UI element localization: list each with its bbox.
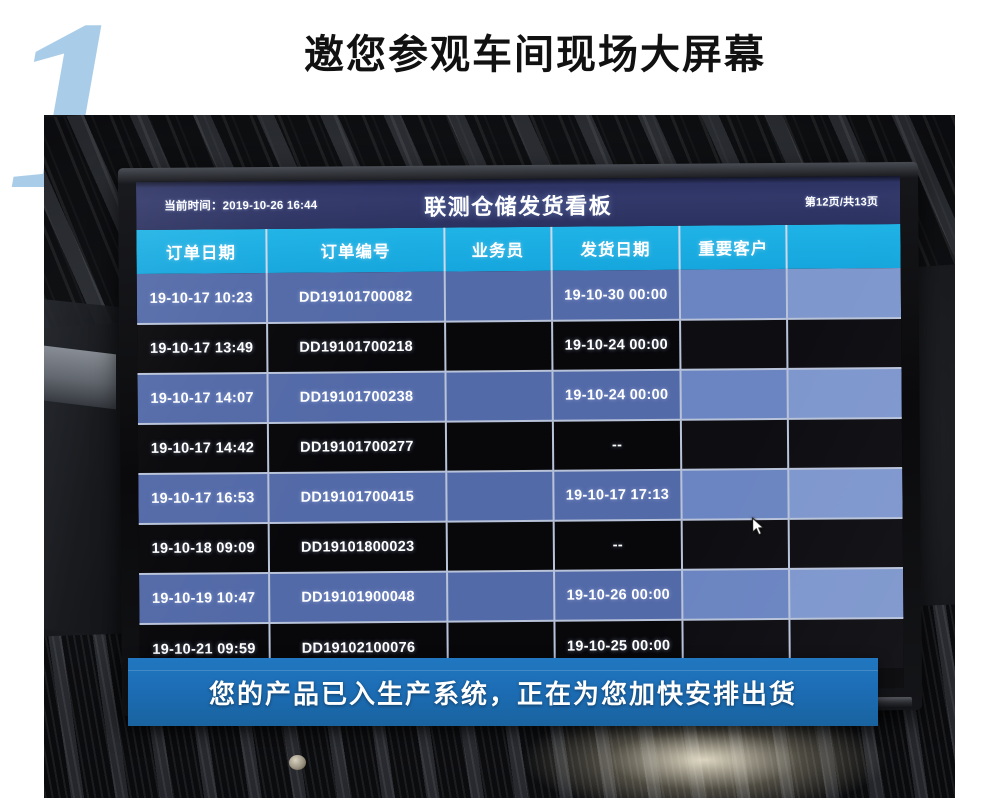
dashboard-screen: 当前时间：2019-10-26 16:44 联测仓储发货看板 第12页/共13页… bbox=[136, 176, 904, 694]
cell-order-date: 19-10-17 16:53 bbox=[138, 473, 268, 524]
screenshot-root: 1 邀您参观车间现场大屏幕 当前时间：2019-10-26 16:44 联测仓储… bbox=[0, 0, 1000, 798]
dashboard-header: 当前时间：2019-10-26 16:44 联测仓储发货看板 第12页/共13页 bbox=[136, 176, 900, 230]
column-header-extra bbox=[786, 224, 900, 269]
cell-salesperson bbox=[447, 521, 554, 572]
column-header-order-no: 订单编号 bbox=[266, 228, 444, 273]
table-row: 19-10-17 16:53 DD19101700415 19-10-17 17… bbox=[138, 468, 902, 524]
page-title: 邀您参观车间现场大屏幕 bbox=[0, 22, 1000, 80]
cell-key-customer bbox=[681, 369, 788, 420]
cell-ship-date: -- bbox=[553, 520, 682, 571]
table-row: 19-10-17 14:42 DD19101700277 -- bbox=[138, 418, 902, 474]
cell-key-customer bbox=[682, 569, 789, 620]
promo-banner-text: 您的产品已入生产系统，正在为您加快安排出货 bbox=[209, 674, 797, 711]
cell-extra bbox=[787, 318, 901, 369]
cell-order-no: DD19101700218 bbox=[267, 322, 445, 373]
column-header-ship-date: 发货日期 bbox=[551, 226, 680, 271]
cell-salesperson bbox=[447, 571, 554, 622]
cell-extra bbox=[787, 268, 901, 319]
ceiling-screw bbox=[289, 755, 306, 770]
cell-salesperson bbox=[446, 471, 553, 522]
cell-salesperson bbox=[445, 321, 552, 372]
column-header-salesperson: 业务员 bbox=[444, 227, 551, 272]
cell-key-customer bbox=[682, 519, 789, 570]
shipment-board-table: 订单日期 订单编号 业务员 发货日期 重要客户 19-10-17 10:23 D… bbox=[136, 224, 903, 674]
table-row: 19-10-18 09:09 DD19101800023 -- bbox=[139, 518, 903, 574]
left-metal-panel bbox=[44, 346, 116, 410]
cell-order-no: DD19101900048 bbox=[269, 572, 447, 623]
cell-extra bbox=[788, 418, 902, 469]
cell-extra bbox=[788, 468, 902, 519]
page-indicator: 第12页/共13页 bbox=[805, 193, 878, 210]
table-row: 19-10-17 10:23 DD19101700082 19-10-30 00… bbox=[137, 268, 901, 324]
cell-order-date: 19-10-17 14:07 bbox=[137, 373, 267, 424]
cell-key-customer bbox=[680, 269, 787, 320]
cell-ship-date: -- bbox=[553, 420, 682, 471]
table-row: 19-10-19 10:47 DD19101900048 19-10-26 00… bbox=[139, 568, 903, 624]
cell-order-date: 19-10-18 09:09 bbox=[139, 523, 269, 574]
cell-extra bbox=[789, 518, 903, 569]
cell-key-customer bbox=[681, 419, 788, 470]
cell-key-customer bbox=[681, 469, 788, 520]
cell-extra bbox=[788, 368, 902, 419]
cell-order-date: 19-10-17 14:42 bbox=[138, 423, 268, 474]
cell-order-date: 19-10-19 10:47 bbox=[139, 573, 269, 624]
cell-ship-date: 19-10-17 17:13 bbox=[553, 470, 682, 521]
dashboard-title: 联测仓储发货看板 bbox=[136, 186, 900, 224]
table-row: 19-10-17 13:49 DD19101700218 19-10-24 00… bbox=[137, 318, 901, 374]
column-header-key-customer: 重要客户 bbox=[680, 225, 787, 270]
cell-order-no: DD19101800023 bbox=[269, 522, 447, 573]
cell-salesperson bbox=[445, 371, 552, 422]
cell-ship-date: 19-10-30 00:00 bbox=[552, 270, 681, 321]
promo-banner: 您的产品已入生产系统，正在为您加快安排出货 bbox=[128, 658, 878, 726]
wall-mounted-monitor: 当前时间：2019-10-26 16:44 联测仓储发货看板 第12页/共13页… bbox=[118, 162, 922, 716]
cell-key-customer bbox=[680, 319, 787, 370]
cell-salesperson bbox=[445, 271, 552, 322]
table-header-row: 订单日期 订单编号 业务员 发货日期 重要客户 bbox=[136, 224, 900, 274]
cell-ship-date: 19-10-24 00:00 bbox=[552, 320, 681, 371]
cell-order-no: DD19101700277 bbox=[268, 422, 446, 473]
cell-ship-date: 19-10-26 00:00 bbox=[554, 570, 683, 621]
cell-extra bbox=[789, 568, 903, 619]
cell-order-date: 19-10-17 13:49 bbox=[137, 323, 267, 374]
cell-order-date: 19-10-17 10:23 bbox=[137, 273, 267, 324]
column-header-order-date: 订单日期 bbox=[136, 229, 266, 274]
cell-order-no: DD19101700238 bbox=[267, 372, 445, 423]
table-row: 19-10-17 14:07 DD19101700238 19-10-24 00… bbox=[137, 368, 901, 424]
cell-salesperson bbox=[446, 421, 553, 472]
cell-order-no: DD19101700082 bbox=[267, 272, 445, 323]
cell-order-no: DD19101700415 bbox=[268, 472, 446, 523]
cell-ship-date: 19-10-24 00:00 bbox=[552, 370, 681, 421]
